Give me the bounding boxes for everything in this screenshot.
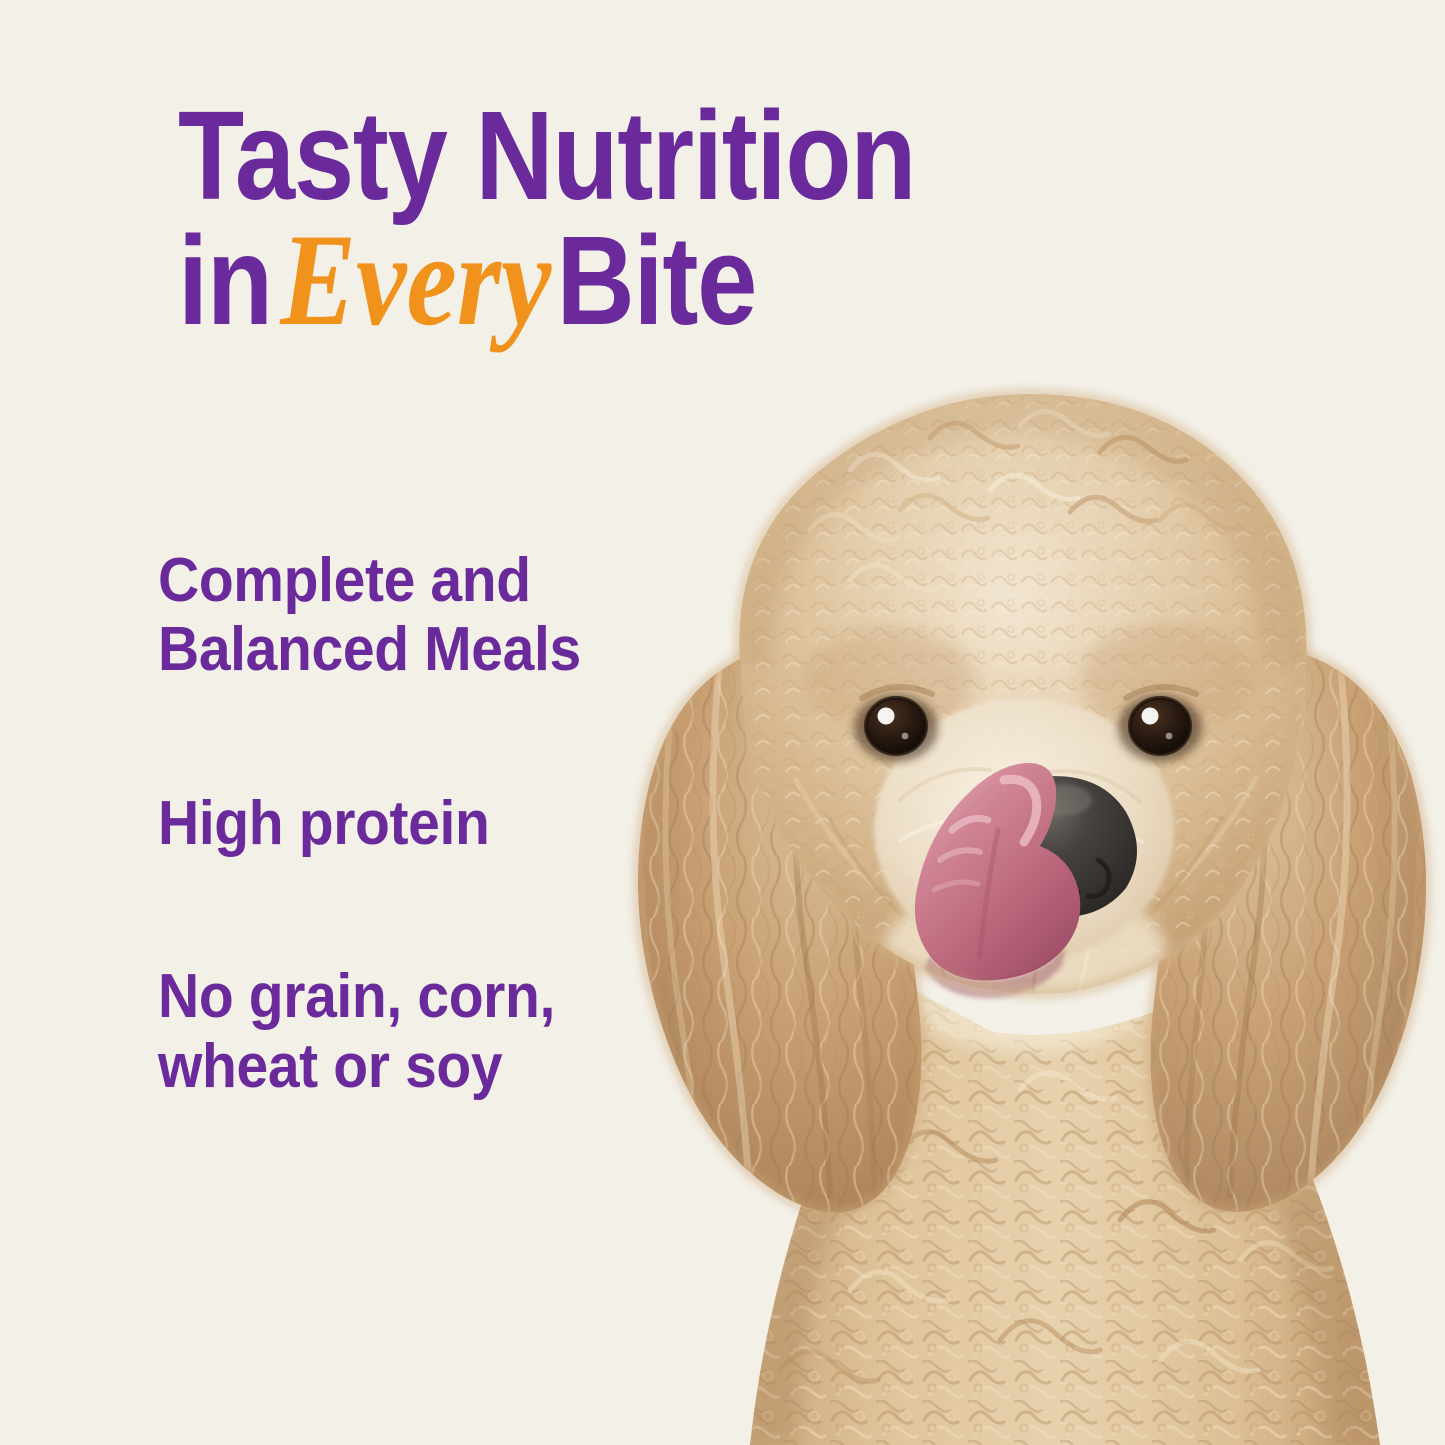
benefits-list: Complete and Balanced Meals High protein… [158, 546, 718, 1101]
dog-photo [600, 360, 1445, 1445]
benefit-item-no-grain-corn-wheat-soy: No grain, corn, wheat or soy [158, 962, 673, 1101]
benefit-3-line-1: No grain, corn, [158, 962, 673, 1031]
page-title: Tasty Nutrition inEveryBite [178, 96, 1238, 344]
benefit-1-line-2: Balanced Meals [158, 615, 673, 684]
benefit-3-line-2: wheat or soy [158, 1032, 673, 1101]
headline-line-2: inEveryBite [178, 217, 1090, 344]
benefit-item-complete-balanced: Complete and Balanced Meals [158, 546, 673, 685]
promo-banner: Tasty Nutrition inEveryBite Complete and… [0, 0, 1445, 1445]
headline-line-2-pre: in [178, 210, 272, 351]
headline-line-2-post: Bite [557, 210, 757, 351]
benefit-2-line-1: High protein [158, 789, 673, 858]
benefit-item-high-protein: High protein [158, 789, 673, 858]
benefit-1-line-1: Complete and [158, 546, 673, 615]
headline-emphasis-every: Every [272, 206, 557, 353]
dog-illustration [600, 360, 1445, 1445]
headline-line-1: Tasty Nutrition [178, 96, 1090, 217]
